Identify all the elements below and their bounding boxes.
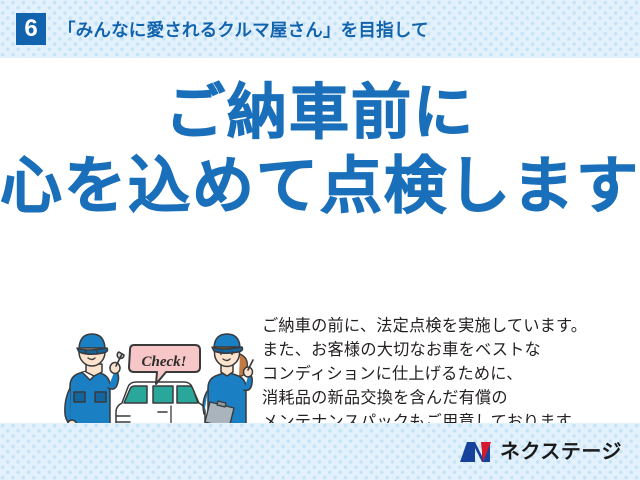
- header-content: 6 「みんなに愛されるクルマ屋さん」を目指して: [0, 0, 640, 58]
- body-line-4: 消耗品の新品交換を含んだ有償の: [262, 386, 632, 410]
- header-title: 「みんなに愛されるクルマ屋さん」を目指して: [58, 17, 429, 42]
- section-number-badge: 6: [16, 13, 46, 45]
- promo-slide: 6 「みんなに愛されるクルマ屋さん」を目指して ご納車前に 心を込めて点検します…: [0, 0, 640, 480]
- body-line-3: コンディションに仕上げるために、: [262, 362, 632, 386]
- brand-name: ネクステージ: [500, 442, 622, 462]
- header-band: 6 「みんなに愛されるクルマ屋さん」を目指して: [0, 0, 640, 58]
- check-label: Check!: [142, 354, 187, 370]
- headline-block: ご納車前に 心を込めて点検します: [0, 76, 640, 224]
- main-content: ご納車前に 心を込めて点検します ご納車の前に、法定点検を実施しています。 また…: [0, 58, 640, 423]
- headline-line-2: 心を込めて点検します: [0, 150, 640, 224]
- footer-content: ネクステージ: [0, 423, 640, 480]
- headline-line-1: ご納車前に: [0, 76, 640, 150]
- footer-band: ネクステージ: [0, 423, 640, 480]
- body-line-2: また、お客様の大切なお車をベストな: [262, 338, 632, 362]
- nextage-logo-icon: [459, 440, 493, 464]
- body-line-1: ご納車の前に、法定点検を実施しています。: [262, 314, 632, 338]
